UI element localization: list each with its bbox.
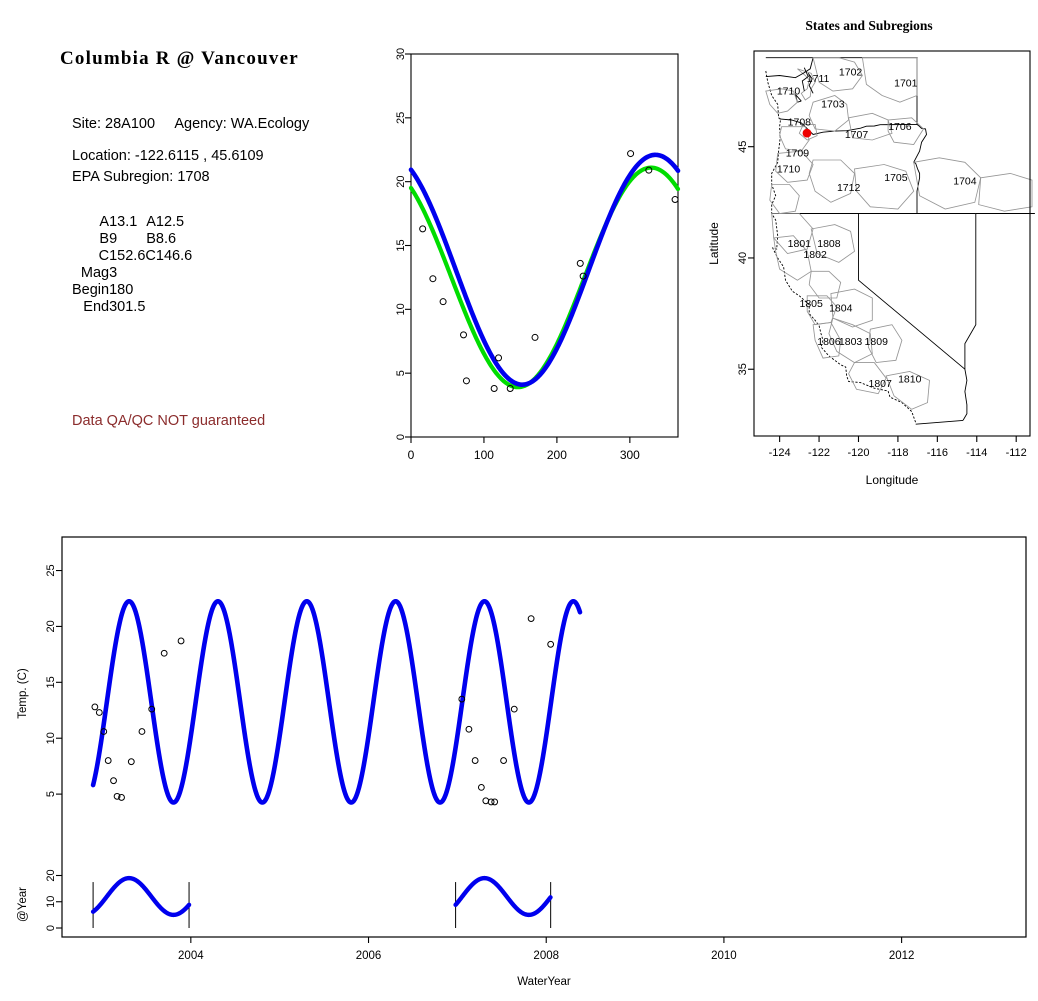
param-value-1: 180 — [109, 282, 145, 299]
x-tick-label: -114 — [966, 447, 987, 459]
data-point — [466, 726, 472, 732]
data-point — [628, 151, 634, 157]
x-tick-label: 0 — [408, 448, 415, 462]
y-tick-label: 20 — [45, 620, 57, 632]
data-point — [178, 638, 184, 644]
subregion-label: 1710 — [777, 85, 801, 97]
data-point — [139, 729, 145, 735]
subregion-label: 1806 — [817, 336, 841, 348]
param-value-1: 152.6 — [109, 248, 145, 265]
data-point — [532, 334, 538, 340]
map-yaxis-label: Latitude — [707, 222, 721, 265]
param-value-2 — [156, 282, 192, 299]
param-value-1: 3 — [109, 265, 145, 282]
data-point — [463, 378, 469, 384]
x-tick-label: 2004 — [178, 950, 204, 962]
subregion-label: 1706 — [888, 121, 912, 133]
table-row: A 13.1 A 12.5 — [72, 214, 192, 231]
seasonal-axes: 0510152025300100200300 — [395, 48, 678, 462]
subregion-label: 1707 — [845, 129, 869, 141]
data-point — [461, 332, 467, 338]
x-tick-label: -116 — [927, 447, 948, 459]
site-info-panel: Columbia R @ Vancouver Site: 28A100 Agen… — [60, 48, 405, 438]
y-tick-label: 20 — [395, 176, 407, 188]
subregion-boundary — [855, 165, 914, 210]
state-boundary — [963, 214, 976, 421]
table-row: End 301.5 — [72, 299, 192, 316]
subregion-label: 1712 — [837, 182, 861, 194]
param-value-2: 12.5 — [156, 214, 192, 231]
table-row: Begin 180 — [72, 282, 192, 299]
subregion-label: 1804 — [829, 302, 853, 314]
data-point — [430, 276, 436, 282]
param-key: Begin — [72, 282, 109, 299]
subpanel-curve — [93, 878, 189, 915]
param-value-2 — [156, 299, 192, 316]
data-point — [491, 385, 497, 391]
y-tick-label: 5 — [395, 370, 407, 376]
subregion-boundary — [809, 271, 841, 298]
subregion-label: 1704 — [953, 176, 977, 188]
x-tick-label: 300 — [620, 448, 640, 462]
subregion-label: 1803 — [839, 336, 863, 348]
param-key: End — [72, 299, 109, 316]
param-value-2: 146.6 — [156, 248, 192, 265]
page-title: Columbia R @ Vancouver — [60, 48, 405, 70]
states-subregions-map: States and Subregions 171117101702170117… — [700, 8, 1038, 498]
timeseries-xaxis-label: WaterYear — [517, 976, 571, 988]
y-tick-label: 35 — [737, 363, 749, 375]
param-key-2: A — [145, 214, 155, 231]
subregion-label: 1805 — [799, 298, 823, 310]
fit-parameter-table: A 13.1 A 12.5 B 9 B 8.6 C 152.6 C 146.6 — [72, 214, 192, 316]
subpanel-curve — [456, 878, 551, 915]
x-tick-label: 200 — [547, 448, 567, 462]
timeseries-axes: 2004200620082010201251015202501020 — [45, 537, 1026, 962]
subregion-label: 1809 — [865, 336, 889, 348]
seasonal-plot-panel: 0510152025300100200300 — [380, 40, 690, 480]
x-tick-label: -112 — [1006, 447, 1027, 459]
subregion-boundary — [809, 160, 854, 202]
data-point — [548, 641, 554, 647]
param-key: B — [72, 231, 109, 248]
subregion-label: 1701 — [894, 78, 918, 90]
x-tick-label: -118 — [887, 447, 908, 459]
x-tick-label: -122 — [808, 447, 830, 459]
data-point — [128, 759, 134, 765]
subregion-label: 1802 — [803, 249, 827, 261]
y-tick-label-secondary: 0 — [45, 925, 57, 931]
y-tick-label: 30 — [395, 48, 407, 60]
timeseries-subpanel — [93, 878, 551, 928]
y-tick-label: 5 — [45, 791, 57, 797]
data-point — [105, 758, 111, 764]
table-row: B 9 B 8.6 — [72, 231, 192, 248]
param-key-2 — [145, 282, 155, 299]
x-tick-label: 2012 — [889, 950, 915, 962]
y-tick-label: 25 — [45, 564, 57, 576]
y-tick-label-secondary: 20 — [45, 869, 57, 881]
timeseries-yaxis-label: Temp. (C) — [17, 668, 29, 719]
timeseries-panel: 2004200620082010201251015202501020 Water… — [0, 520, 1038, 1001]
data-point — [478, 785, 484, 791]
map-xaxis-label: Longitude — [866, 473, 919, 487]
data-point — [440, 299, 446, 305]
fit-curve-fit-green — [411, 168, 678, 388]
map-panel: States and Subregions 171117101702170117… — [700, 8, 1038, 498]
data-point — [577, 260, 583, 266]
site-marker — [803, 129, 812, 138]
data-point — [96, 710, 102, 716]
data-point — [501, 758, 507, 764]
param-value-1: 13.1 — [109, 214, 145, 231]
data-point — [528, 616, 534, 622]
data-point — [111, 778, 117, 784]
data-point — [161, 650, 167, 656]
seasonal-plot: 0510152025300100200300 — [380, 40, 690, 480]
fit-curve-fit-blue — [411, 155, 678, 385]
y-tick-label: 15 — [395, 239, 407, 251]
site-agency-line: Site: 28A100 Agency: WA.Ecology — [72, 116, 309, 132]
x-tick-label: 2010 — [711, 950, 737, 962]
subregion-label: 1702 — [839, 66, 863, 78]
x-tick-label: 2008 — [533, 950, 559, 962]
y-tick-label: 40 — [737, 252, 749, 264]
x-tick-label: -120 — [847, 447, 869, 459]
timeseries-fit-curve — [93, 601, 580, 802]
fit-parameter-rows: A 13.1 A 12.5 B 9 B 8.6 C 152.6 C 146.6 — [72, 214, 192, 316]
param-key-2 — [145, 299, 155, 316]
timeseries-plot: 2004200620082010201251015202501020 Water… — [0, 520, 1038, 1001]
param-key-2: C — [145, 248, 155, 265]
param-value-1: 9 — [109, 231, 145, 248]
data-point — [672, 197, 678, 203]
y-tick-label: 25 — [395, 112, 407, 124]
param-key: C — [72, 248, 109, 265]
param-value-2 — [156, 265, 192, 282]
y-tick-label: 0 — [395, 434, 407, 440]
x-tick-label: 100 — [474, 448, 494, 462]
map-title: States and Subregions — [805, 18, 932, 33]
qaqc-warning: Data QA/QC NOT guaranteed — [72, 413, 265, 429]
subregion-boundary — [979, 173, 1032, 211]
y-tick-label: 10 — [45, 732, 57, 744]
subregion-label: 1709 — [786, 148, 810, 160]
data-point — [483, 798, 489, 804]
table-row: Mag 3 — [72, 265, 192, 282]
param-key: Mag — [72, 265, 109, 282]
timeseries-yaxis-label-secondary: @Year — [17, 887, 29, 922]
subregion-label: 1703 — [821, 99, 845, 111]
plot-page: Columbia R @ Vancouver Site: 28A100 Agen… — [0, 0, 1038, 1001]
data-point — [92, 704, 98, 710]
plot-border — [411, 54, 678, 437]
param-key-2 — [145, 265, 155, 282]
y-tick-label-secondary: 10 — [45, 896, 57, 908]
seasonal-fit-curves — [411, 155, 678, 387]
subregion-label: 1705 — [884, 172, 908, 184]
param-key-2: B — [145, 231, 155, 248]
epa-subregion-line: EPA Subregion: 1708 — [72, 169, 210, 185]
y-tick-label: 45 — [737, 141, 749, 153]
subregion-label: 1807 — [868, 378, 892, 390]
param-key: A — [72, 214, 109, 231]
state-boundary — [916, 420, 963, 424]
x-tick-label: 2006 — [356, 950, 382, 962]
data-point — [472, 758, 478, 764]
table-row: C 152.6 C 146.6 — [72, 248, 192, 265]
data-point — [420, 226, 426, 232]
subregion-label: 1708 — [788, 117, 812, 129]
param-value-1: 301.5 — [109, 299, 145, 316]
data-point — [492, 799, 498, 805]
data-point — [496, 355, 502, 361]
subregion-label: 1810 — [898, 374, 922, 386]
location-line: Location: -122.6115 , 45.6109 — [72, 148, 264, 164]
fit-curve — [93, 601, 580, 802]
param-value-2: 8.6 — [156, 231, 192, 248]
data-point — [511, 706, 517, 712]
subregion-label: 1711 — [807, 73, 830, 85]
x-tick-label: -124 — [769, 447, 791, 459]
y-tick-label: 10 — [395, 303, 407, 315]
subregion-label: 1710 — [777, 163, 801, 175]
y-tick-label: 15 — [45, 676, 57, 688]
